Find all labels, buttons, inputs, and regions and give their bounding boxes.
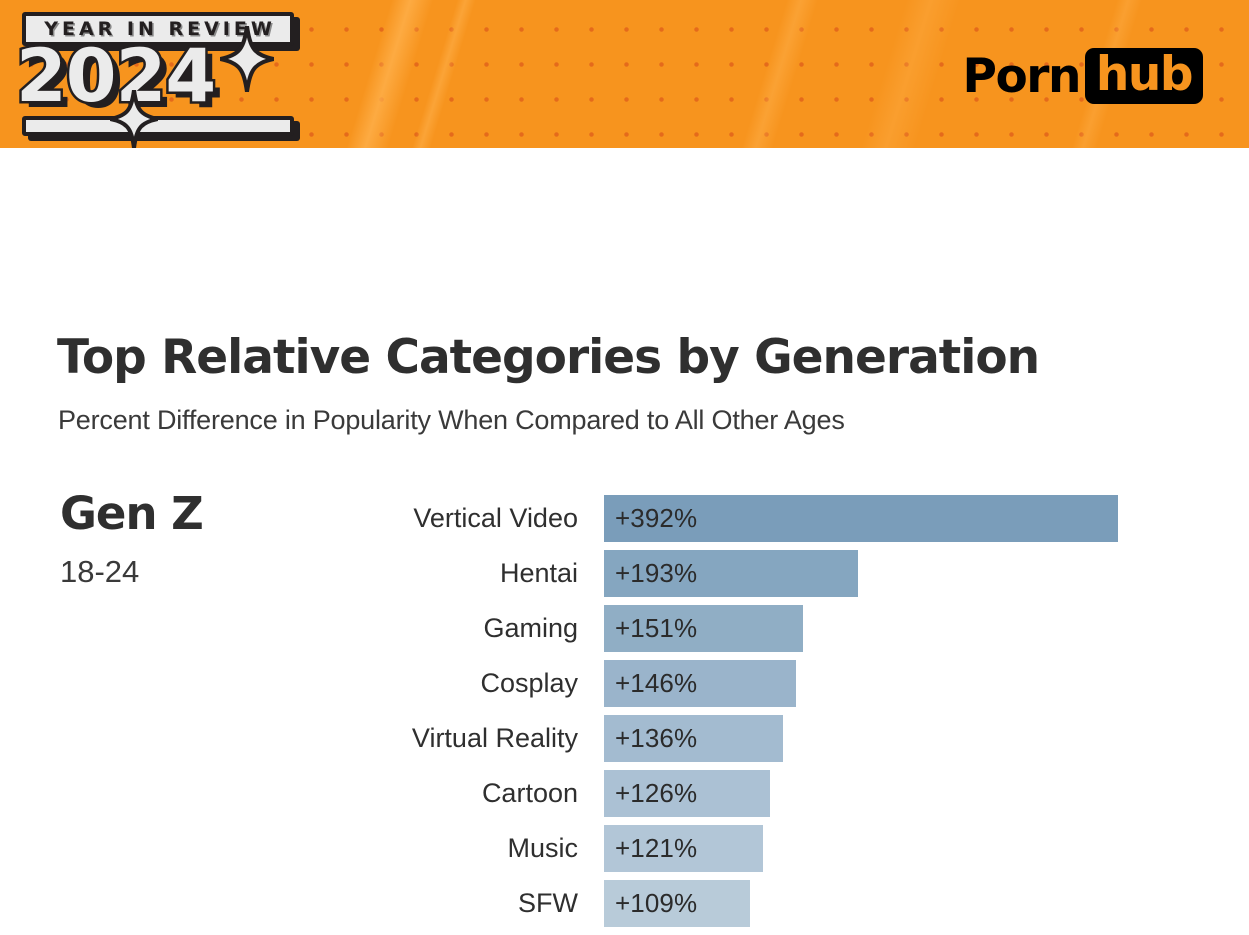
bar-category-label: SFW bbox=[518, 880, 578, 927]
bar-row: Music+121% bbox=[0, 825, 1249, 880]
bar-row: Cartoon+126% bbox=[0, 770, 1249, 825]
bar-row: Vertical Video+392% bbox=[0, 495, 1249, 550]
page-subtitle: Percent Difference in Popularity When Co… bbox=[58, 405, 845, 436]
bar-row: Hentai+193% bbox=[0, 550, 1249, 605]
bar: +121% bbox=[604, 825, 763, 872]
bar-category-label: Vertical Video bbox=[413, 495, 578, 542]
banner-streak bbox=[717, 0, 833, 148]
bar-category-label: Music bbox=[507, 825, 578, 872]
bar-category-label: Cosplay bbox=[480, 660, 578, 707]
bar-row: Virtual Reality+136% bbox=[0, 715, 1249, 770]
bar-value-label: +151% bbox=[604, 613, 697, 644]
year-in-review-badge: YEAR IN REVIEW 2024 bbox=[14, 8, 302, 140]
bar: +151% bbox=[604, 605, 803, 652]
year-label: 2024 bbox=[16, 44, 215, 110]
bar: +136% bbox=[604, 715, 783, 762]
bar-category-label: Virtual Reality bbox=[412, 715, 578, 762]
header-banner: YEAR IN REVIEW 2024 Porn hub bbox=[0, 0, 1249, 148]
bar-category-label: Hentai bbox=[500, 550, 578, 597]
bar-value-label: +121% bbox=[604, 833, 697, 864]
bar-row: SFW+109% bbox=[0, 880, 1249, 935]
page-title: Top Relative Categories by Generation bbox=[57, 330, 1039, 385]
bar-row: Cosplay+146% bbox=[0, 660, 1249, 715]
bar-chart: Vertical Video+392%Hentai+193%Gaming+151… bbox=[0, 495, 1249, 935]
logo-text-porn: Porn bbox=[963, 53, 1085, 100]
bar: +109% bbox=[604, 880, 750, 927]
bar-row: Gaming+151% bbox=[0, 605, 1249, 660]
year-badge: 2024 bbox=[16, 44, 294, 110]
bar: +193% bbox=[604, 550, 858, 597]
bar-value-label: +109% bbox=[604, 888, 697, 919]
pornhub-logo: Porn hub bbox=[963, 48, 1203, 104]
banner-streak bbox=[387, 0, 492, 148]
bar-value-label: +136% bbox=[604, 723, 697, 754]
bar-value-label: +146% bbox=[604, 668, 697, 699]
banner-streak bbox=[322, 0, 448, 148]
bar: +126% bbox=[604, 770, 770, 817]
bar-category-label: Gaming bbox=[483, 605, 578, 652]
bar-category-label: Cartoon bbox=[482, 770, 578, 817]
logo-text-hub: hub bbox=[1085, 48, 1203, 104]
bar: +146% bbox=[604, 660, 796, 707]
bar-value-label: +193% bbox=[604, 558, 697, 589]
bar-value-label: +126% bbox=[604, 778, 697, 809]
badge-underbar bbox=[22, 116, 294, 136]
bar-value-label: +392% bbox=[604, 503, 697, 534]
bar: +392% bbox=[604, 495, 1118, 542]
banner-streak bbox=[837, 0, 974, 148]
